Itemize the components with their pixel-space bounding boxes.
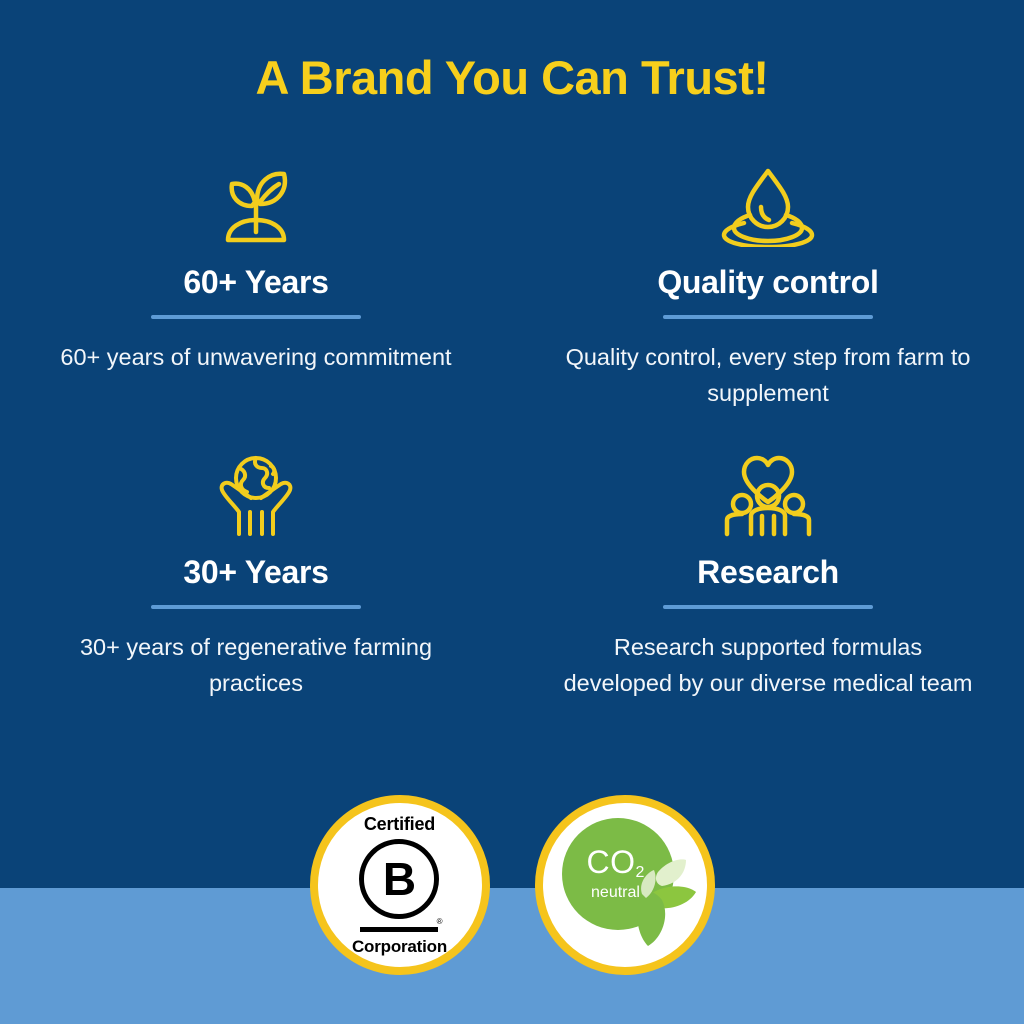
bcorp-top-label: Certified	[364, 815, 435, 833]
feature-card-quality-control: Quality control Quality control, every s…	[512, 160, 1024, 450]
bcorp-letter: B	[359, 839, 439, 919]
co2-label: CO2 neutral	[564, 846, 668, 901]
b-corp-certified-badge: Certified B ® Corporation	[310, 795, 490, 975]
co2-neutral-text: neutral	[564, 885, 668, 901]
sprout-icon	[208, 160, 304, 252]
feature-divider	[151, 605, 361, 609]
water-droplet-icon	[716, 160, 820, 252]
feature-title: 60+ Years	[183, 266, 328, 300]
feature-card-years-30: 30+ Years 30+ years of regenerative farm…	[0, 450, 512, 740]
brand-trust-infographic: A Brand You Can Trust! 60+ Years 60+ yea…	[0, 0, 1024, 1024]
page-title: A Brand You Can Trust!	[0, 52, 1024, 104]
features-grid: 60+ Years 60+ years of unwavering commit…	[0, 160, 1024, 740]
heart-people-icon	[718, 450, 818, 542]
feature-divider	[663, 315, 873, 319]
feature-description: 60+ years of unwavering commitment	[60, 339, 451, 375]
feature-title: Quality control	[657, 266, 878, 300]
feature-title: Research	[697, 556, 839, 590]
co2-subscript: 2	[636, 864, 645, 881]
co2-main-text: CO	[587, 844, 636, 880]
bcorp-bottom-label: Corporation	[352, 938, 447, 955]
feature-divider	[663, 605, 873, 609]
feature-description: Research supported formulas developed by…	[558, 629, 978, 702]
feature-description: Quality control, every step from farm to…	[558, 339, 978, 412]
feature-card-research: Research Research supported formulas dev…	[512, 450, 1024, 740]
feature-description: 30+ years of regenerative farming practi…	[46, 629, 466, 702]
registered-trademark-icon: ®	[437, 918, 443, 926]
feature-title: 30+ Years	[183, 556, 328, 590]
feature-divider	[151, 315, 361, 319]
bcorp-rule: ®	[360, 927, 438, 932]
certification-badges: Certified B ® Corporation CO2	[0, 795, 1024, 975]
hands-holding-globe-icon	[207, 450, 305, 542]
feature-card-years-60: 60+ Years 60+ years of unwavering commit…	[0, 160, 512, 450]
co2-neutral-badge: CO2 neutral	[535, 795, 715, 975]
